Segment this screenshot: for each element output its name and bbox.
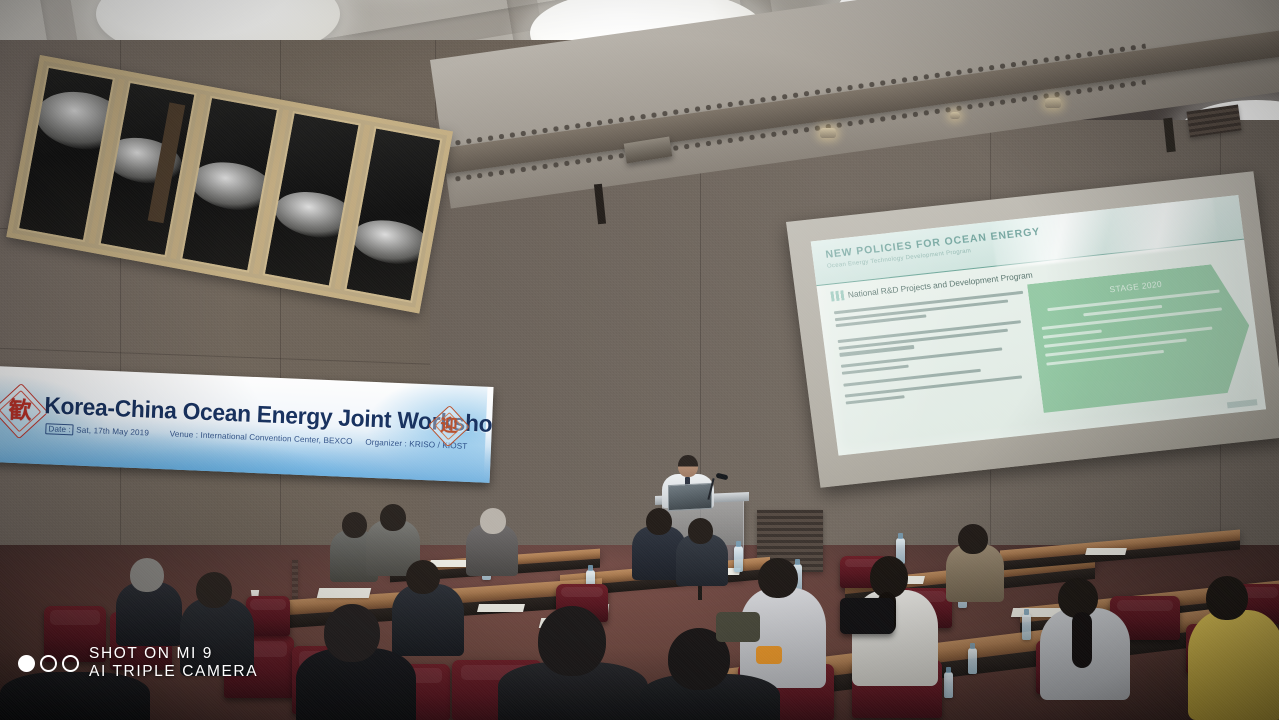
projection-screen: NEW POLICIES FOR OCEAN ENERGY Ocean Ener… [786, 171, 1279, 488]
camera-lens-icon [40, 655, 57, 672]
lamp-reflection [31, 85, 115, 157]
triple-camera-icon [18, 655, 79, 672]
watermark-line-1: SHOT ON MI 9 [89, 645, 258, 663]
slide-green-callout: STAGE 2020 [1027, 261, 1257, 413]
water-bottle [734, 546, 743, 572]
conference-photo: NEW POLICIES FOR OCEAN ENERGY Ocean Ener… [0, 0, 1279, 720]
wall-louver-vent [292, 560, 298, 604]
watermark-text: SHOT ON MI 9 AI TRIPLE CAMERA [89, 645, 258, 682]
orange-item-on-table [756, 646, 782, 664]
paper-handout [1085, 548, 1127, 555]
bag-on-floor [840, 598, 894, 634]
banner-date-label: Date : [45, 423, 74, 435]
welcome-banner: 歓 Korea-China Ocean Energy Joint Worksho… [0, 366, 494, 483]
water-bottle [968, 648, 977, 674]
ceiling-spotlight [820, 128, 836, 138]
green-callout-title: STAGE 2020 [1037, 271, 1234, 302]
seal-character-huan: 歓 [8, 399, 32, 423]
camera-lens-icon [62, 655, 79, 672]
slide-bullet-marker [830, 290, 844, 301]
water-bottle [1022, 614, 1031, 640]
ponytail [1072, 612, 1092, 668]
bag-on-floor [716, 612, 760, 642]
slide-body-text [834, 290, 1043, 408]
ceiling-spotlight [1045, 98, 1061, 108]
watermark-line-2: AI TRIPLE CAMERA [89, 663, 258, 681]
paper-handout [317, 588, 371, 598]
camera-watermark: SHOT ON MI 9 AI TRIPLE CAMERA [18, 645, 258, 682]
welcome-seal-right: 迎 [431, 408, 466, 443]
projected-slide: NEW POLICIES FOR OCEAN ENERGY Ocean Ener… [811, 195, 1266, 456]
water-bottle [944, 672, 953, 698]
presenter-head [678, 455, 698, 477]
seal-character-ying: 迎 [440, 417, 458, 435]
paper-handout [477, 604, 525, 612]
lamp-reflection [348, 214, 434, 270]
welcome-seal-left: 歓 [0, 388, 43, 434]
camera-lens-icon [18, 655, 35, 672]
ceiling-spotlight [950, 112, 960, 119]
presenter-laptop [668, 483, 712, 511]
slide-page-chip [1227, 399, 1258, 408]
